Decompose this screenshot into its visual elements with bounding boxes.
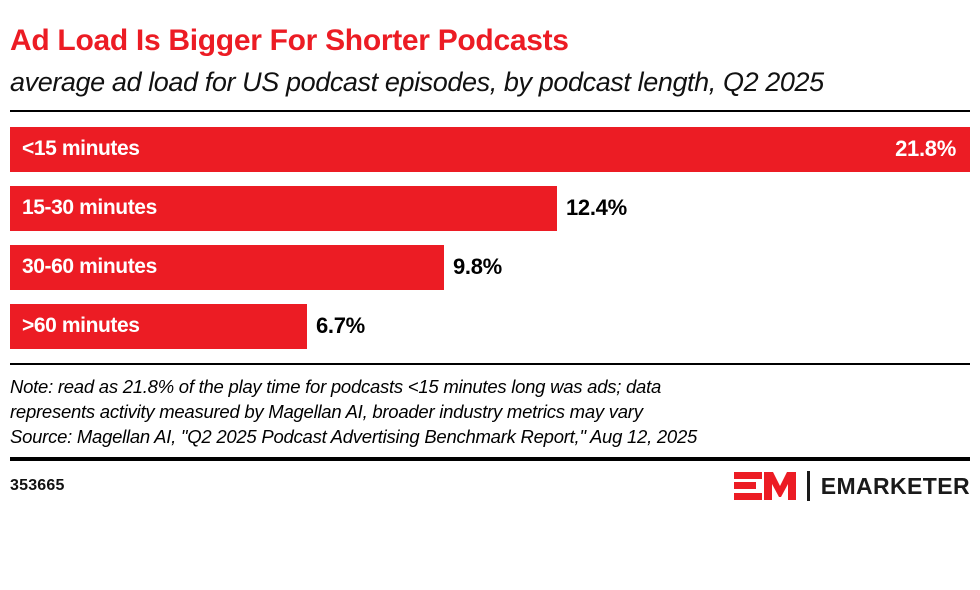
chart-subtitle: average ad load for US podcast episodes,… [10,56,950,99]
footer: 353665 EMARKETER [10,461,970,502]
logo-wordmark: EMARKETER [821,473,970,500]
chart-id: 353665 [10,477,65,495]
bar-category-label: >60 minutes [22,314,140,338]
bar-value-label: 6.7% [307,304,365,349]
bar-category-label: 15-30 minutes [22,196,157,220]
bar-30-60-minutes[interactable]: 30-60 minutes [10,245,444,290]
bar-15-30-minutes[interactable]: 15-30 minutes [10,186,557,231]
bar-row: >60 minutes 6.7% [10,304,970,349]
bar-value-label: 21.8% [895,136,956,162]
bar-category-label: 30-60 minutes [22,255,157,279]
bar-category-label: <15 minutes [22,137,140,161]
emarketer-logo[interactable]: EMARKETER [734,470,970,502]
bar-row: <15 minutes 21.8% [10,127,970,172]
note-line-1: Note: read as 21.8% of the play time for… [10,374,970,399]
logo-divider [807,471,810,501]
page-title: Ad Load Is Bigger For Shorter Podcasts [10,0,970,56]
note-line-2: represents activity measured by Magellan… [10,399,970,424]
bar-lt-15-minutes[interactable]: <15 minutes 21.8% [10,127,970,172]
bar-gt-60-minutes[interactable]: >60 minutes [10,304,307,349]
chart-card: Ad Load Is Bigger For Shorter Podcasts a… [0,0,980,590]
header-divider [10,110,970,112]
bar-value-label: 12.4% [557,186,627,231]
bar-chart: <15 minutes 21.8% 15-30 minutes 12.4% 30… [10,127,970,349]
notes-block: Note: read as 21.8% of the play time for… [10,365,970,449]
footer-spacer [10,449,970,457]
bar-row: 30-60 minutes 9.8% [10,245,970,290]
em-monogram-icon [734,470,798,502]
bar-value-label: 9.8% [444,245,502,290]
bar-row: 15-30 minutes 12.4% [10,186,970,231]
source-line: Source: Magellan AI, "Q2 2025 Podcast Ad… [10,424,970,449]
